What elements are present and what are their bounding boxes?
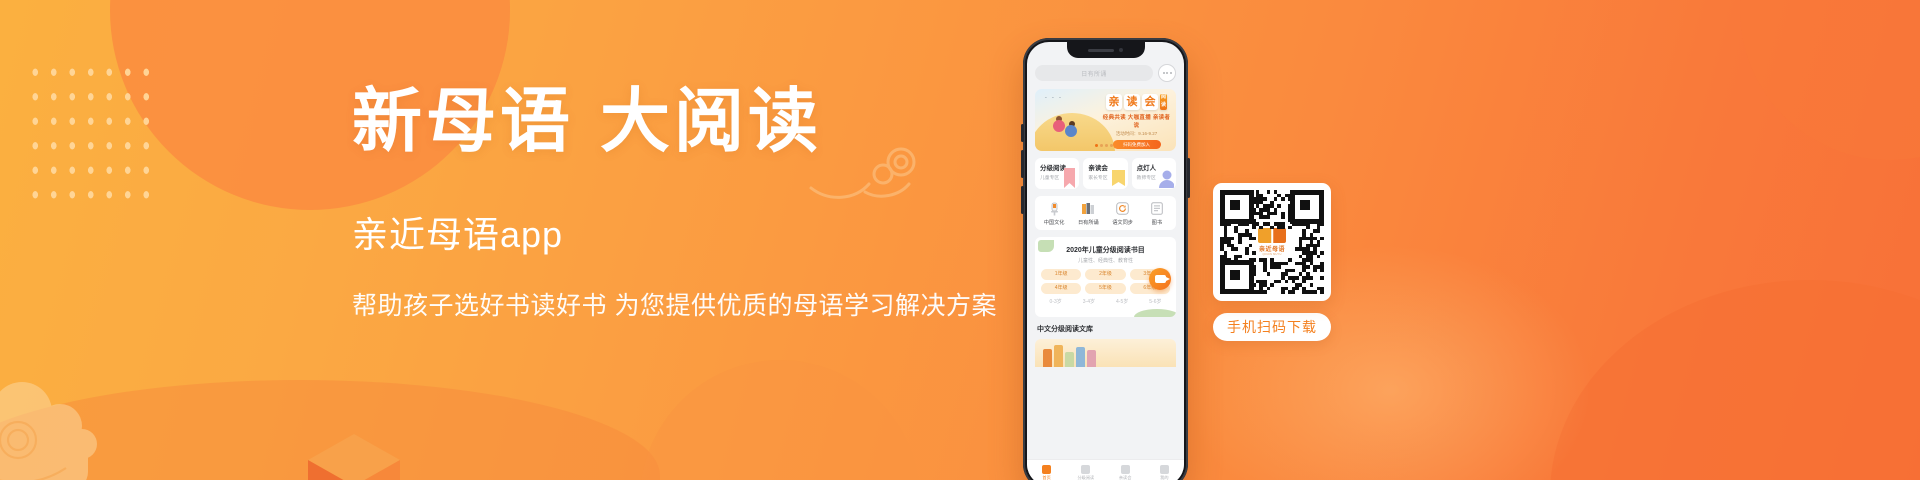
- age-tag[interactable]: 4-5岁: [1108, 297, 1137, 308]
- decorative-hill: [1134, 309, 1176, 317]
- promo-char-2: 读: [1124, 94, 1140, 110]
- promo-badge: 阅读: [1160, 94, 1167, 110]
- phone-volume-up: [1021, 150, 1024, 178]
- phone-notch: [1067, 42, 1145, 58]
- decorative-blob-right-top: [1740, 0, 1920, 160]
- app-name: 亲近母语app: [352, 206, 1012, 258]
- brand-logo: 亲近母语 QINJIN MUYU: [1253, 225, 1291, 259]
- promo-kid-2: [1065, 125, 1077, 137]
- phone-mockup: 日有所诵 ˜ ˜ ˜ 亲 读: [1023, 38, 1188, 480]
- book-icon: [1140, 201, 1174, 216]
- cloud-icon-bottom-left: [0, 370, 148, 480]
- scan-download-button[interactable]: 手机扫码下载: [1213, 313, 1331, 341]
- quick-icon-label: 图书: [1140, 219, 1174, 226]
- note-icon: [1111, 168, 1126, 188]
- decorative-circle-bottom-mid: [640, 360, 920, 480]
- tab-graded-reading[interactable]: 分级阅读: [1066, 465, 1105, 480]
- quick-icon-culture[interactable]: 中国文化: [1037, 201, 1071, 226]
- phone-mute-switch: [1021, 124, 1024, 142]
- carousel-dots[interactable]: [1095, 144, 1113, 147]
- age-tag[interactable]: 3-4岁: [1074, 297, 1103, 308]
- brand-pinyin: QINJIN MUYU: [1262, 253, 1281, 256]
- grade-tag[interactable]: 2年级: [1085, 269, 1125, 280]
- page-title: 新母语大阅读: [352, 88, 1012, 158]
- promo-date: 活动时间：9.16-9.27: [1101, 131, 1172, 137]
- age-tag[interactable]: 5-6岁: [1141, 297, 1170, 308]
- promo-title: 亲 读 会 阅读: [1101, 94, 1172, 110]
- headline-part-1: 新母语: [352, 84, 574, 161]
- library-section-title: 中文分级阅读文库: [1035, 324, 1176, 334]
- headline-block: 新母语大阅读 亲近母语app 帮助孩子选好书读好书 为您提供优质的母语学习解决方…: [352, 88, 1012, 322]
- decorative-dune-bottom-left: [0, 380, 660, 480]
- quick-icon-label: 日有所诵: [1071, 219, 1105, 226]
- quick-icon-recite[interactable]: 日有所诵: [1071, 201, 1105, 226]
- decorative-blob-right-bottom: [1550, 280, 1920, 480]
- promo-banner: 新母语大阅读 亲近母语app 帮助孩子选好书读好书 为您提供优质的母语学习解决方…: [0, 0, 1920, 480]
- video-play-icon[interactable]: [1149, 268, 1171, 290]
- decorative-dot-grid: [24, 58, 152, 210]
- person-icon: [1159, 168, 1174, 188]
- age-tag-row: 0-3岁 3-4岁 4-5岁 5-6岁: [1041, 297, 1170, 308]
- grade-tag[interactable]: 5年级: [1085, 283, 1125, 294]
- library-shelf[interactable]: [1035, 339, 1176, 367]
- qr-block: 亲近母语 QINJIN MUYU 手机扫码下载: [1213, 183, 1331, 341]
- headline-part-2: 大阅读: [600, 84, 822, 161]
- grade-tag[interactable]: 1年级: [1041, 269, 1081, 280]
- booklist-card: 2020年儿童分级阅读书目 儿童性、经典性、教育性 1年级 2年级 3年级 4年…: [1035, 237, 1176, 317]
- category-card-graded-reading[interactable]: 分级阅读 儿童专区: [1035, 158, 1079, 189]
- bottom-tab-bar: 首页 分级阅读 亲读会 我的: [1027, 459, 1184, 480]
- qr-card: 亲近母语 QINJIN MUYU: [1213, 183, 1331, 301]
- search-placeholder: 日有所诵: [1081, 69, 1107, 78]
- decorative-cube: [300, 426, 408, 480]
- front-camera-icon: [1119, 48, 1123, 52]
- age-tag[interactable]: 0-3岁: [1041, 297, 1070, 308]
- promo-card[interactable]: ˜ ˜ ˜ 亲 读 会 阅读 经典共读 大咖直播 亲读者说 活动时间：9: [1035, 89, 1176, 151]
- promo-char-1: 亲: [1106, 94, 1122, 110]
- recite-icon: [1071, 201, 1105, 216]
- phone-volume-down: [1021, 186, 1024, 214]
- quick-icon-label: 中国文化: [1037, 219, 1071, 226]
- banner-tagline: 帮助孩子选好书读好书 为您提供优质的母语学习解决方案: [352, 286, 1012, 322]
- quick-icon-books[interactable]: 图书: [1140, 201, 1174, 226]
- booklist-title: 2020年儿童分级阅读书目: [1041, 245, 1170, 255]
- birds-icon: ˜ ˜ ˜: [1045, 97, 1063, 103]
- category-card-parent-club[interactable]: 亲读会 家长专区: [1083, 158, 1127, 189]
- tab-profile[interactable]: 我的: [1145, 465, 1184, 480]
- category-card-teacher[interactable]: 点灯人 教师专区: [1132, 158, 1176, 189]
- category-card-row: 分级阅读 儿童专区 亲读会 家长专区 点灯人: [1035, 158, 1176, 189]
- quick-icon-sync[interactable]: 语文同步: [1106, 201, 1140, 226]
- search-input[interactable]: 日有所诵: [1035, 65, 1153, 81]
- ellipsis-icon[interactable]: [1158, 64, 1176, 82]
- app-search-row: 日有所诵: [1035, 64, 1176, 82]
- earpiece-speaker: [1088, 49, 1114, 52]
- promo-kid-1: [1053, 120, 1065, 132]
- open-book-icon: [1258, 228, 1286, 243]
- tab-home[interactable]: 首页: [1027, 465, 1066, 480]
- tab-parent-club[interactable]: 亲读会: [1106, 465, 1145, 480]
- brand-name: 亲近母语: [1259, 244, 1285, 253]
- culture-icon: [1037, 201, 1071, 216]
- sync-icon: [1106, 201, 1140, 216]
- grade-tag[interactable]: 4年级: [1041, 283, 1081, 294]
- booklist-tag-grid: 1年级 2年级 3年级 4年级 5年级 6年级 0-3岁 3-4岁 4-: [1041, 269, 1170, 308]
- promo-subtitle: 经典共读 大咖直播 亲读者说: [1101, 113, 1172, 129]
- quick-icon-label: 语文同步: [1106, 219, 1140, 226]
- quick-icon-row: 中国文化 日有所诵: [1035, 196, 1176, 230]
- tab-label: 我的: [1145, 475, 1184, 480]
- bookmark-icon: [1062, 168, 1077, 188]
- qr-code: 亲近母语 QINJIN MUYU: [1220, 190, 1324, 294]
- phone-screen: 日有所诵 ˜ ˜ ˜ 亲 读: [1027, 42, 1184, 480]
- promo-cta-button[interactable]: 扫码免费加入: [1113, 140, 1161, 149]
- tab-label: 首页: [1027, 475, 1066, 480]
- phone-power-button: [1187, 158, 1190, 198]
- promo-char-3: 会: [1142, 94, 1158, 110]
- booklist-subtitle: 儿童性、经典性、教育性: [1041, 257, 1170, 264]
